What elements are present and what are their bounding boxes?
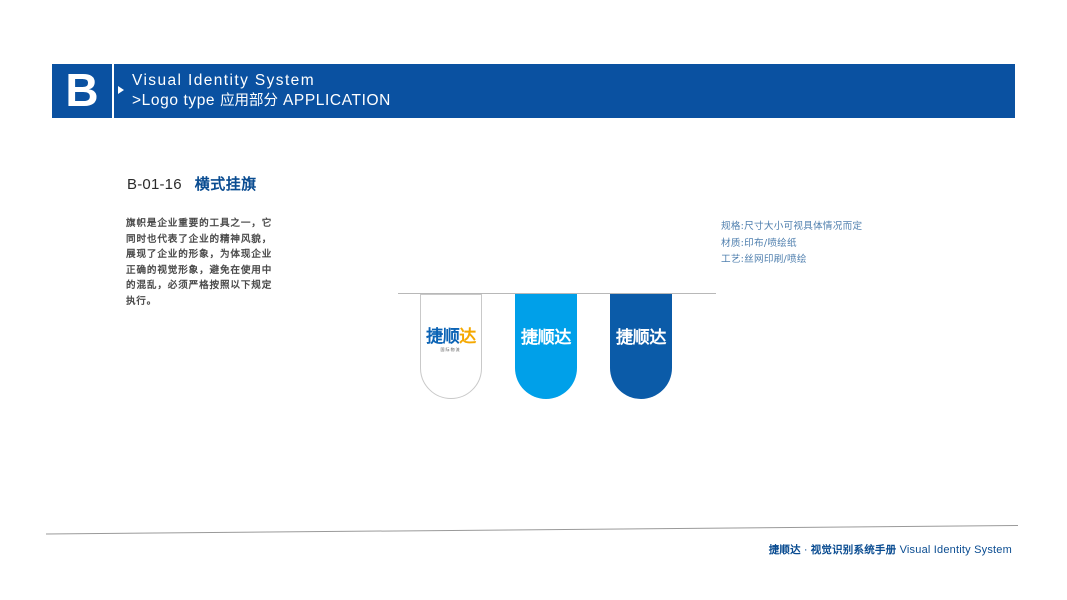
flag-cyan: 捷顺达 — [515, 294, 577, 399]
flag-deep-blue: 捷顺达 — [610, 294, 672, 399]
logo-wordmark: 捷顺达 — [426, 329, 476, 346]
spec-list: 规格:尺寸大小可视具体情况而定 材质:印布/喷绘纸 工艺:丝网印刷/喷绘 — [721, 219, 862, 269]
spec-line-size: 规格:尺寸大小可视具体情况而定 — [721, 219, 862, 236]
header-text-block: Visual Identity System >Logo type 应用部分 A… — [130, 64, 391, 118]
flag-white: 捷顺达 国际物流 — [420, 294, 482, 399]
header-section-letter-zone: B — [52, 64, 112, 118]
spec-line-material: 材质:印布/喷绘纸 — [721, 236, 862, 253]
header-subtitle-prefix: >Logo type — [132, 92, 215, 109]
description-paragraph: 旗帜是企业重要的工具之一，它同时也代表了企业的精神风貌，展现了企业的形象，为体现… — [126, 216, 272, 309]
logo-wordmark-gold: 达 — [459, 327, 476, 347]
footer-separator: · — [801, 544, 811, 556]
section-title: B-01-16 横式挂旗 — [127, 173, 257, 194]
triangle-right-icon — [114, 64, 130, 118]
page-canvas: B Visual Identity System >Logo type 应用部分… — [0, 0, 1067, 600]
header-subtitle-line: >Logo type 应用部分 APPLICATION — [132, 91, 391, 111]
header-band: B Visual Identity System >Logo type 应用部分… — [52, 64, 1015, 118]
spec-line-process: 工艺:丝网印刷/喷绘 — [721, 252, 862, 269]
header-section-letter: B — [65, 67, 98, 115]
header-title-line: Visual Identity System — [132, 71, 391, 91]
header-subtitle-cjk: 应用部分 — [220, 93, 278, 109]
flag-cyan-wordmark: 捷顺达 — [521, 330, 571, 347]
flag-deep-blue-wordmark: 捷顺达 — [616, 330, 666, 347]
logo-subtitle: 国际物流 — [441, 348, 461, 352]
footer-manual-cjk: 视觉识别系统手册 — [811, 544, 897, 556]
section-name: 横式挂旗 — [195, 173, 257, 194]
logo-wordmark-blue: 捷顺 — [426, 327, 459, 347]
footer-manual-latin: Visual Identity System — [900, 544, 1012, 556]
footer-brand: 捷顺达 — [769, 544, 801, 556]
header-subtitle-suffix: APPLICATION — [283, 92, 391, 109]
footer-caption: 捷顺达·视觉识别系统手册 Visual Identity System — [769, 542, 1012, 557]
logo-lockup: 捷顺达 国际物流 — [426, 329, 476, 352]
flag-mockup-stage: 捷顺达 国际物流 捷顺达 捷顺达 — [398, 286, 728, 416]
section-code: B-01-16 — [127, 176, 182, 193]
footer-divider — [46, 523, 1018, 539]
